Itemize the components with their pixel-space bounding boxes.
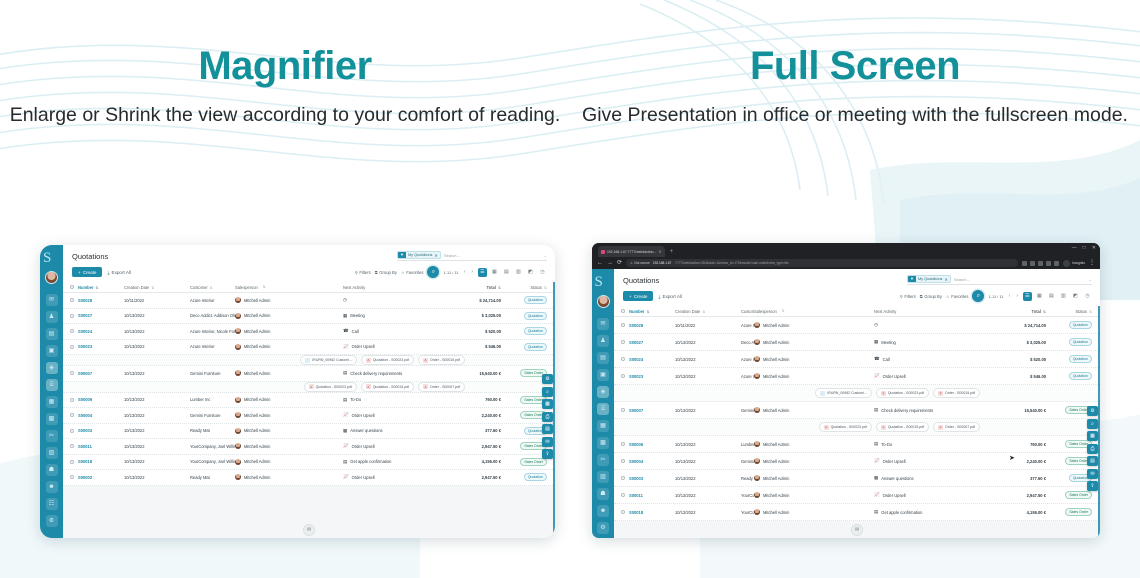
- cell-date: 10/13/2022: [124, 413, 190, 418]
- page-title: Quotations: [72, 252, 108, 261]
- attachment-chip[interactable]: AQuotation - S00023.pdf: [876, 388, 929, 398]
- mail-icon[interactable]: ✉: [303, 524, 315, 536]
- pivot-view-button[interactable]: ▥: [1059, 292, 1068, 301]
- table-row[interactable]: S0000610/13/2022Lumber IncMitchell Admin…: [63, 393, 555, 409]
- mouse-cursor: ➤: [1009, 454, 1015, 462]
- cell-total: 760.00 €: [992, 442, 1046, 447]
- kanban-view-button[interactable]: ▦: [1035, 292, 1044, 301]
- table-row[interactable]: S0002810/11/2022Azure InteriorMitchell A…: [614, 317, 1100, 334]
- app-logo-icon[interactable]: S: [595, 274, 612, 291]
- row-checkbox[interactable]: [70, 314, 74, 318]
- attachment-row: AQuotation - S00023.pdfAQuotation - S000…: [614, 419, 1100, 436]
- table-row[interactable]: S0000210/13/2022Ready MatMitchell Admin📈…: [63, 470, 555, 486]
- col-customer[interactable]: Customer⇅: [741, 309, 754, 314]
- pdf-icon: A: [881, 425, 886, 430]
- scrollbar-laptop[interactable]: [1098, 306, 1100, 538]
- favorites-label: Favorites: [951, 294, 968, 299]
- export-all-button[interactable]: ⤓ Export All: [107, 270, 130, 275]
- favorites-button[interactable]: ☆ Favorites: [946, 294, 969, 299]
- cell-customer: Azure Interior: [190, 344, 235, 349]
- back-icon[interactable]: ←: [597, 260, 603, 266]
- warning-icon: ⚠: [630, 261, 633, 265]
- avatar: [754, 339, 760, 345]
- laptop-browser-mockup: 192.168.1.67:7777/web#action... ✕ + — □ …: [592, 243, 1100, 538]
- contacts-icon[interactable]: ☻: [46, 481, 58, 493]
- cell-status: Quotation: [501, 312, 547, 320]
- maximize-button[interactable]: □: [1083, 245, 1086, 251]
- control-panel: Quotations ▼ My Quotations ✕ Search... ⌄: [614, 269, 1100, 306]
- discuss-icon[interactable]: ✉: [597, 318, 609, 330]
- layers-icon: ⧉: [920, 294, 923, 299]
- cell-number[interactable]: S00011: [629, 493, 675, 498]
- col-activity[interactable]: Next Activity: [874, 309, 992, 314]
- status-badge: Quotation: [1069, 355, 1092, 363]
- cell-salesperson: Mitchell Admin: [235, 328, 343, 334]
- attachment-chip[interactable]: AQuotation - S00023.pdf: [304, 382, 357, 392]
- attachment-label: Quotation - S00023.pdf: [316, 385, 352, 389]
- filters-button[interactable]: ⚲ Filters: [355, 270, 371, 275]
- todo-icon: ▤: [343, 460, 347, 465]
- col-number[interactable]: Number⇅: [629, 309, 675, 314]
- cell-date: 10/13/2022: [675, 357, 741, 362]
- table-row[interactable]: S0000410/13/2022Gemini FurnitureMitchell…: [614, 453, 1100, 470]
- cell-number[interactable]: S00007: [78, 371, 124, 376]
- attachment-chip[interactable]: AOrder - S00007.pdf: [933, 422, 980, 432]
- crm-icon[interactable]: ♟: [597, 335, 609, 347]
- pdf-icon: A: [366, 384, 371, 389]
- share-dock-icon[interactable]: ⇪: [1087, 481, 1098, 491]
- browser-menu-icon[interactable]: ⋮: [1089, 260, 1095, 266]
- row-checkbox[interactable]: [70, 398, 74, 402]
- status-badge: Quotation: [1069, 372, 1092, 380]
- attachment-chip[interactable]: IRURN_00962 Customi...: [815, 388, 872, 398]
- chevron-down-icon[interactable]: ⌄: [544, 253, 547, 258]
- pdf-icon: A: [366, 358, 371, 363]
- favicon-icon: [601, 250, 605, 254]
- forward-icon[interactable]: →: [607, 260, 613, 266]
- employees-icon[interactable]: ▧: [46, 447, 58, 459]
- cell-number[interactable]: S00003: [629, 476, 675, 481]
- cell-salesperson: Mitchell Admin: [235, 459, 343, 465]
- grid-dock-icon[interactable]: ▦: [542, 399, 553, 409]
- extension-one-icon[interactable]: [1030, 261, 1035, 266]
- cell-number[interactable]: S00018: [629, 510, 675, 515]
- chat-dock-icon[interactable]: ✉: [542, 437, 553, 447]
- attachment-label: Order - S00015.pdf: [430, 358, 460, 362]
- table-row[interactable]: S0002310/13/2022Azure InteriorMitchell A…: [63, 340, 555, 356]
- col-status[interactable]: Status⇅: [1046, 309, 1092, 314]
- favorites-button[interactable]: ☆ Favorites: [401, 270, 424, 275]
- upsell-icon: 📈: [343, 475, 349, 480]
- cell-number[interactable]: S00027: [629, 340, 675, 345]
- table-row[interactable]: S0000410/13/2022Gemini FurnitureMitchell…: [63, 408, 555, 424]
- calendar-icon[interactable]: ☷: [46, 498, 58, 510]
- website-icon[interactable]: ▩: [46, 413, 58, 425]
- col-customer[interactable]: Customer⇅: [190, 285, 235, 290]
- search-dock-icon[interactable]: ⌕: [542, 387, 553, 397]
- mail-icon[interactable]: ✉: [851, 524, 863, 536]
- magnifier-icon[interactable]: ⌕: [972, 290, 984, 302]
- row-checkbox[interactable]: [621, 442, 625, 446]
- cell-activity: ▦Meeting: [874, 340, 992, 345]
- reload-icon[interactable]: ⟳: [617, 260, 622, 266]
- contacts-icon[interactable]: ☻: [597, 505, 609, 517]
- cell-customer: Azure Interior, Nicole Ford: [741, 357, 754, 362]
- close-icon[interactable]: ✕: [434, 253, 439, 258]
- scrollbar-tablet[interactable]: [553, 282, 555, 538]
- cell-salesperson: Mitchell Admin: [754, 492, 874, 498]
- recruitment-icon[interactable]: ☗: [597, 488, 609, 500]
- print-dock-icon[interactable]: ⎙: [542, 412, 553, 422]
- new-tab-button[interactable]: +: [667, 248, 677, 257]
- table-row[interactable]: S0001110/13/2022YourCompany, Joel Willis…: [614, 487, 1100, 504]
- panel-magnifier: Magnifier Enlarge or Shrink the view acc…: [0, 0, 570, 130]
- chat-dock-icon[interactable]: ✉: [1087, 469, 1098, 479]
- print-dock-icon[interactable]: ⎙: [1087, 444, 1098, 454]
- settings-dock-icon[interactable]: ⚙: [1087, 406, 1098, 416]
- pager-next-button[interactable]: ›: [470, 269, 474, 275]
- table-row[interactable]: S0002810/11/2022Azure InteriorMitchell A…: [63, 293, 555, 309]
- cell-customer: YourCompany, Joel Willis: [741, 493, 754, 498]
- cell-number[interactable]: S00003: [78, 428, 124, 433]
- cell-number[interactable]: S00006: [78, 397, 124, 402]
- cell-date: 10/13/2022: [124, 313, 190, 318]
- pager-prev-button[interactable]: ‹: [1008, 293, 1012, 299]
- attachment-chip[interactable]: AOrder - S00015.pdf: [418, 355, 465, 365]
- cell-customer: Gemini Furniture: [741, 459, 754, 464]
- chevron-down-icon[interactable]: ⌄: [1089, 277, 1092, 282]
- avatar: [754, 509, 760, 515]
- table-row[interactable]: S0001110/13/2022YourCompany, Joel Willis…: [63, 439, 555, 455]
- table-row[interactable]: S0002410/13/2022Azure Interior, Nicole F…: [63, 324, 555, 340]
- cell-activity: ▤Get apple confirmation: [343, 459, 447, 464]
- col-salesperson[interactable]: Salesperson⇅: [235, 285, 343, 290]
- attachment-chip[interactable]: AQuotation - S00015.pdf: [361, 382, 414, 392]
- view-switcher: ☰ ▦ ▤ ▥ ◩ ◷: [1023, 292, 1092, 301]
- sales-icon[interactable]: ▤: [46, 328, 58, 340]
- export-all-button[interactable]: ⤓ Export All: [658, 294, 681, 299]
- cell-total: $ 546.00: [447, 344, 501, 349]
- graph-view-button[interactable]: ◩: [1071, 292, 1080, 301]
- attachment-chip[interactable]: AOrder - S00015.pdf: [933, 388, 980, 398]
- col-activity[interactable]: Next Activity: [343, 285, 447, 290]
- list-view-button[interactable]: ☰: [478, 268, 487, 277]
- cell-number[interactable]: S00028: [629, 323, 675, 328]
- cell-activity: ▩Answer questions: [874, 476, 992, 481]
- cell-status: Quotation: [1046, 372, 1092, 380]
- cell-number[interactable]: S00028: [78, 298, 124, 303]
- recruitment-icon[interactable]: ☗: [46, 464, 58, 476]
- export-label: Export All: [663, 294, 682, 299]
- cell-customer: Gemini Furniture: [741, 408, 754, 413]
- activity-view-button[interactable]: ◷: [538, 268, 547, 277]
- bookmark-icon[interactable]: [1022, 261, 1027, 266]
- table-row[interactable]: S0000710/13/2022Gemini FurnitureMitchell…: [63, 366, 555, 382]
- cell-salesperson: Mitchell Admin: [754, 373, 874, 379]
- panel-title-magnifier: Magnifier: [0, 44, 570, 88]
- cell-date: 10/11/2022: [124, 298, 190, 303]
- col-date[interactable]: Creation Date⇅: [124, 285, 190, 290]
- cell-date: 10/13/2022: [124, 475, 190, 480]
- row-checkbox[interactable]: [70, 444, 74, 448]
- plus-icon: +: [78, 270, 81, 275]
- cell-number[interactable]: S00004: [629, 459, 675, 464]
- call-icon: ☎: [343, 329, 349, 334]
- pager-prev-button[interactable]: ‹: [463, 269, 467, 275]
- status-badge: Quotation: [1069, 338, 1092, 346]
- cell-number[interactable]: S00006: [629, 442, 675, 447]
- attachment-chip[interactable]: AQuotation - S00023.pdf: [819, 422, 872, 432]
- address-bar[interactable]: ⚠ Not secure 192.168.1.67 :7777/web#acti…: [626, 259, 1018, 267]
- manufacturing-icon[interactable]: ✂: [597, 454, 609, 466]
- cell-activity: ▩Answer questions: [343, 428, 447, 433]
- extension-four-icon[interactable]: [1054, 261, 1059, 266]
- cell-activity: 📈Order Upsell: [343, 344, 447, 349]
- avatar[interactable]: [45, 271, 58, 284]
- accounting-icon[interactable]: ⌸: [597, 403, 609, 415]
- cell-total: 377.60 €: [447, 428, 501, 433]
- pdf-icon: A: [309, 384, 314, 389]
- cell-number[interactable]: S00027: [78, 313, 124, 318]
- table-row[interactable]: S0002410/13/2022Azure Interior, Nicole F…: [614, 351, 1100, 368]
- magnifier-icon[interactable]: ⌕: [427, 266, 439, 278]
- close-window-button[interactable]: ✕: [1092, 245, 1096, 251]
- cell-customer: Ready Mat: [190, 428, 235, 433]
- inventory-icon[interactable]: ▣: [597, 369, 609, 381]
- row-checkbox[interactable]: [621, 493, 625, 497]
- row-checkbox[interactable]: [70, 345, 74, 349]
- status-badge: Quotation: [524, 312, 547, 320]
- row-checkbox[interactable]: [621, 357, 625, 361]
- upsell-icon: 📈: [874, 459, 880, 464]
- row-checkbox[interactable]: [621, 340, 625, 344]
- project-icon[interactable]: ▦: [46, 396, 58, 408]
- table-row[interactable]: S0001810/13/2022YourCompany, Joel Willis…: [614, 504, 1100, 521]
- pager-label: 1-11 / 11: [988, 294, 1003, 299]
- cell-number[interactable]: S00004: [78, 413, 124, 418]
- discuss-icon[interactable]: ✉: [46, 294, 58, 306]
- upsell-icon: 📈: [874, 374, 880, 379]
- browser-tab[interactable]: 192.168.1.67:7777/web#action... ✕: [598, 246, 665, 257]
- page-title: Quotations: [623, 276, 659, 285]
- cell-total: $ 520.00: [992, 357, 1046, 362]
- cell-salesperson: Mitchell Admin: [754, 509, 874, 515]
- cell-date: 10/13/2022: [124, 371, 190, 376]
- settings-dock-icon[interactable]: ⚙: [542, 374, 553, 384]
- table-row[interactable]: S0000710/13/2022Gemini FurnitureMitchell…: [614, 402, 1100, 419]
- avatar: [754, 458, 760, 464]
- row-checkbox[interactable]: [621, 374, 625, 378]
- cell-date: 10/13/2022: [675, 408, 741, 413]
- meeting-icon: ▦: [874, 340, 878, 345]
- row-checkbox[interactable]: [70, 371, 74, 375]
- cell-customer: YourCompany, Joel Willis: [741, 510, 754, 515]
- cell-salesperson: Mitchell Admin: [235, 313, 343, 319]
- col-total[interactable]: Total⇅: [992, 309, 1046, 314]
- close-icon[interactable]: ✕: [658, 249, 661, 254]
- purchase-icon[interactable]: ◈: [46, 362, 58, 374]
- activity-view-button[interactable]: ◷: [1083, 292, 1092, 301]
- create-button[interactable]: + Create: [72, 267, 102, 277]
- table-row[interactable]: S0002310/13/2022Azure InteriorMitchell A…: [614, 368, 1100, 385]
- search-input[interactable]: ▼ My Quotations ✕ Search... ⌄: [907, 275, 1092, 285]
- cell-date: 10/13/2022: [124, 444, 190, 449]
- cell-date: 10/13/2022: [124, 397, 190, 402]
- cell-number[interactable]: S00007: [629, 408, 675, 413]
- upsell-icon: 📈: [874, 493, 880, 498]
- status-badge: Quotation: [524, 327, 547, 335]
- cell-activity: 📈Order Upsell: [874, 493, 992, 498]
- table-row[interactable]: S0001810/13/2022YourCompany, Joel Willis…: [63, 455, 555, 471]
- table-row[interactable]: S0002710/13/2022Deco Addict, Addison Ols…: [63, 309, 555, 325]
- row-checkbox[interactable]: [621, 510, 625, 514]
- avatar: [235, 397, 241, 403]
- browser-action-icons: [1022, 261, 1059, 266]
- cell-total: 4,155.00 €: [992, 510, 1046, 515]
- cell-number[interactable]: S00024: [78, 329, 124, 334]
- cell-activity: 📈Order Upsell: [343, 413, 447, 418]
- note-dock-icon[interactable]: ▤: [1087, 456, 1098, 466]
- close-icon[interactable]: ✕: [944, 277, 949, 282]
- search-input[interactable]: ▼ My Quotations ✕ Search... ⌄: [397, 251, 547, 261]
- settings-icon[interactable]: ⚙: [46, 515, 58, 527]
- group-by-button[interactable]: ⧉ Group By: [375, 270, 397, 275]
- table-row[interactable]: S0000310/13/2022Ready MatMitchell Admin▩…: [614, 470, 1100, 487]
- filter-icon: ▼: [908, 275, 916, 283]
- floating-dock-laptop: ⚙ ⌕ ▦ ⎙ ▤ ✉ ⇪: [1087, 406, 1098, 491]
- avatar: [235, 328, 241, 334]
- inventory-icon[interactable]: ▣: [46, 345, 58, 357]
- upsell-icon: 📈: [343, 345, 349, 350]
- purchase-icon[interactable]: ◈: [597, 386, 609, 398]
- share-dock-icon[interactable]: ⇪: [542, 449, 553, 459]
- download-icon: ⤓: [107, 270, 109, 275]
- row-checkbox[interactable]: [621, 408, 625, 412]
- meeting-icon: ▦: [343, 314, 347, 319]
- row-checkbox[interactable]: [70, 298, 74, 302]
- incognito-badge[interactable]: Incognito: [1063, 260, 1085, 267]
- attachment-label: Quotation - S00015.pdf: [373, 385, 409, 389]
- cell-date: 10/13/2022: [124, 428, 190, 433]
- table-row[interactable]: S0000310/13/2022Ready MatMitchell Admin▩…: [63, 424, 555, 440]
- attachment-chip[interactable]: AOrder - S00007.pdf: [418, 382, 465, 392]
- extension-two-icon[interactable]: [1038, 261, 1043, 266]
- sales-icon[interactable]: ▤: [597, 352, 609, 364]
- manufacturing-icon[interactable]: ✂: [46, 430, 58, 442]
- cell-number[interactable]: S00002: [78, 475, 124, 480]
- pdf-icon: A: [824, 425, 829, 430]
- settings-icon[interactable]: ⚙: [597, 522, 609, 534]
- attachment-label: Quotation - S00015.pdf: [888, 425, 924, 429]
- cell-number[interactable]: S00024: [629, 357, 675, 362]
- filters-label: Filters: [359, 270, 370, 275]
- attachment-chip[interactable]: IRURN_00962 Customi...: [300, 355, 357, 365]
- col-salesperson[interactable]: Salesperson⇅: [754, 309, 874, 314]
- avatar: [235, 344, 241, 350]
- avatar: [754, 373, 760, 379]
- panel-subtitle-magnifier: Enlarge or Shrink the view according to …: [0, 102, 570, 130]
- extension-three-icon[interactable]: [1046, 261, 1051, 266]
- url-path: :7777/web#action=284&cids=1&menu_id=179&…: [674, 261, 788, 265]
- list-view-button[interactable]: ☰: [1023, 292, 1032, 301]
- row-checkbox[interactable]: [621, 459, 625, 463]
- minimize-button[interactable]: —: [1072, 245, 1077, 251]
- calendar-view-button[interactable]: ▤: [1047, 292, 1056, 301]
- status-badge: Quotation: [1069, 321, 1092, 329]
- col-status[interactable]: Status⇅: [501, 285, 547, 290]
- col-number[interactable]: Number⇅: [78, 285, 124, 290]
- pdf-icon: A: [423, 358, 428, 363]
- pager-next-button[interactable]: ›: [1015, 293, 1019, 299]
- cell-number[interactable]: S00018: [78, 459, 124, 464]
- table-body-laptop: S0002810/11/2022Azure InteriorMitchell A…: [614, 317, 1100, 521]
- select-all-checkbox[interactable]: [70, 285, 74, 289]
- app-sidebar-left: S ✉ ♟ ▤ ▣ ◈ ⌸ ▦ ▩ ✂ ▧ ☗ ☻ ☷ ⚙: [40, 245, 63, 538]
- grid-dock-icon[interactable]: ▦: [1087, 431, 1098, 441]
- col-total[interactable]: Total⇅: [447, 285, 501, 290]
- search-facet[interactable]: ▼ My Quotations ✕: [907, 275, 951, 283]
- group-by-button[interactable]: ⧉ Group By: [920, 294, 942, 299]
- pdf-icon: A: [938, 391, 943, 396]
- table-header: Number⇅ Creation Date⇅ Customer⇅ Salespe…: [63, 282, 555, 293]
- accounting-icon[interactable]: ⌸: [46, 379, 58, 391]
- table-row[interactable]: S0002710/13/2022Deco Addict, Addison Ols…: [614, 334, 1100, 351]
- crm-icon[interactable]: ♟: [46, 311, 58, 323]
- pivot-view-button[interactable]: ▥: [514, 268, 523, 277]
- cell-date: 10/13/2022: [124, 459, 190, 464]
- website-icon[interactable]: ▩: [597, 437, 609, 449]
- app-logo-icon[interactable]: S: [43, 250, 60, 267]
- export-label: Export All: [112, 270, 131, 275]
- cell-number[interactable]: S00011: [78, 444, 124, 449]
- promo-banner: Magnifier Enlarge or Shrink the view acc…: [0, 0, 1140, 578]
- search-dock-icon[interactable]: ⌕: [1087, 419, 1098, 429]
- project-icon[interactable]: ▦: [597, 420, 609, 432]
- col-date[interactable]: Creation Date⇅: [675, 309, 741, 314]
- cell-salesperson: Mitchell Admin: [754, 322, 874, 328]
- graph-view-button[interactable]: ◩: [526, 268, 535, 277]
- row-checkbox[interactable]: [70, 475, 74, 479]
- attachment-chip[interactable]: AQuotation - S00023.pdf: [361, 355, 414, 365]
- row-checkbox[interactable]: [70, 460, 74, 464]
- status-badge: Sales Order: [1065, 508, 1092, 516]
- select-all-checkbox[interactable]: [621, 309, 625, 313]
- row-checkbox[interactable]: [70, 429, 74, 433]
- cell-activity: ☎Call: [343, 329, 447, 334]
- note-dock-icon[interactable]: ▤: [542, 424, 553, 434]
- cell-total: 2,947.50 €: [992, 493, 1046, 498]
- row-checkbox[interactable]: [621, 323, 625, 327]
- cell-number[interactable]: S00023: [629, 374, 675, 379]
- filters-button[interactable]: ⚲ Filters: [900, 294, 916, 299]
- row-checkbox[interactable]: [70, 329, 74, 333]
- row-checkbox[interactable]: [70, 413, 74, 417]
- calendar-view-button[interactable]: ▤: [502, 268, 511, 277]
- attachment-chip[interactable]: AQuotation - S00015.pdf: [876, 422, 929, 432]
- row-checkbox[interactable]: [621, 476, 625, 480]
- avatar: [235, 412, 241, 418]
- avatar[interactable]: [597, 295, 610, 308]
- cell-date: 10/13/2022: [124, 344, 190, 349]
- create-button[interactable]: + Create: [623, 291, 653, 301]
- avatar: [754, 492, 760, 498]
- cell-status: Sales Order: [501, 458, 547, 466]
- employees-icon[interactable]: ▧: [597, 471, 609, 483]
- kanban-view-button[interactable]: ▦: [490, 268, 499, 277]
- table-row[interactable]: S0000610/13/2022Lumber IncMitchell Admin…: [614, 436, 1100, 453]
- search-facet[interactable]: ▼ My Quotations ✕: [397, 251, 441, 259]
- cell-number[interactable]: S00023: [78, 344, 124, 349]
